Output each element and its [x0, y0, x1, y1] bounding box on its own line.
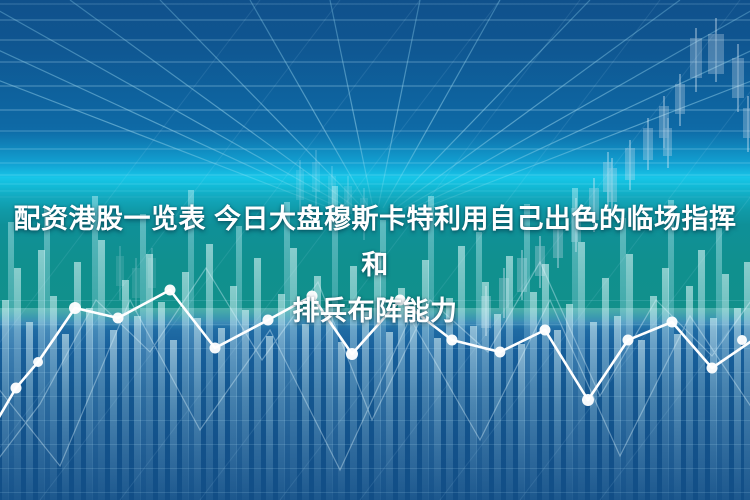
banner-image: 配资港股一览表 今日大盘穆斯卡特利用自己出色的临场指挥和 排兵布阵能力 — [0, 0, 750, 500]
title-line-2: 排兵布阵能力 — [8, 288, 742, 334]
page-title: 配资港股一览表 今日大盘穆斯卡特利用自己出色的临场指挥和 排兵布阵能力 — [0, 196, 750, 334]
title-line-1: 配资港股一览表 今日大盘穆斯卡特利用自己出色的临场指挥和 — [8, 196, 742, 288]
